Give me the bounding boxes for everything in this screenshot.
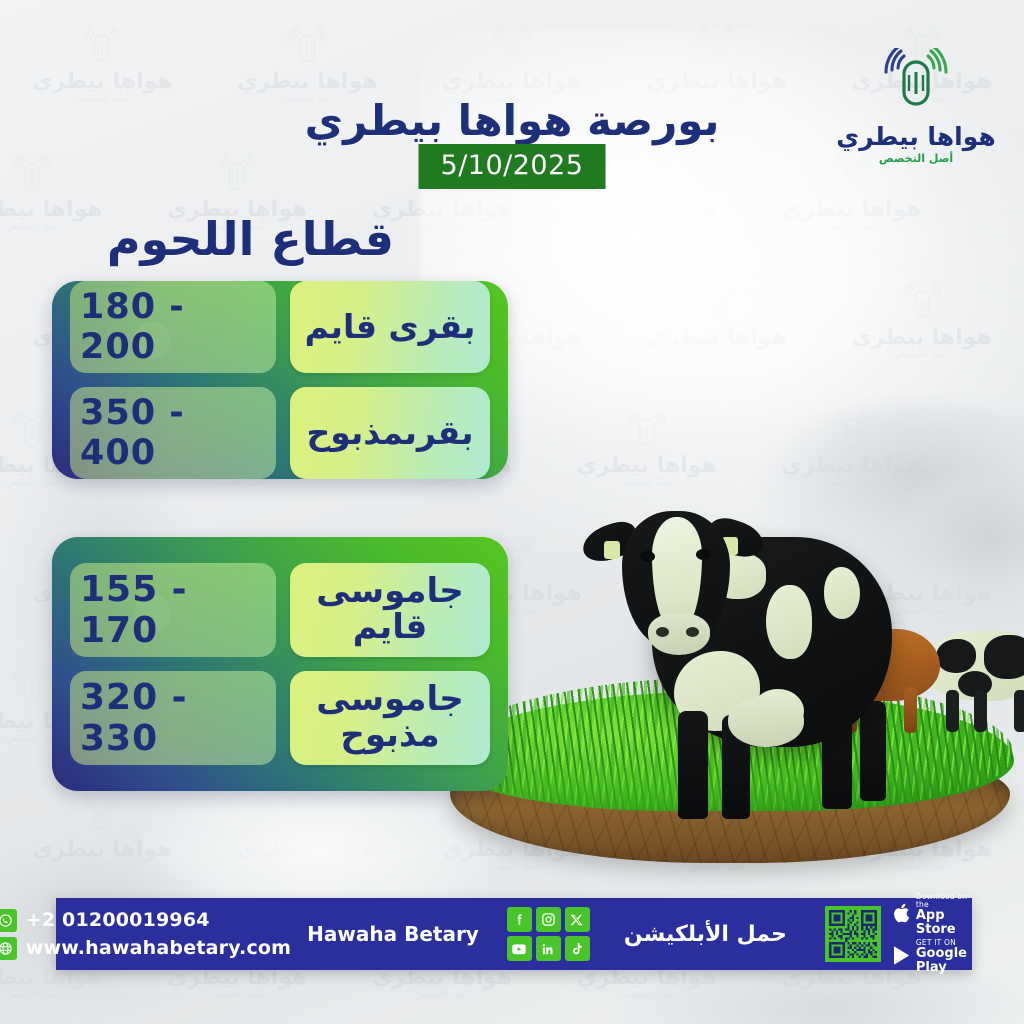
- watermark-tile: هواها بيطريأصل التخصص: [822, 537, 1022, 616]
- background-brown-cow: [826, 623, 976, 733]
- microphone-signal-icon: [281, 25, 333, 73]
- google-play-badge[interactable]: GET IT ON Google Play: [893, 939, 972, 974]
- watermark-text: هواها بيطري: [577, 453, 717, 478]
- microphone-signal-icon: [691, 281, 743, 329]
- watermark-text: هواها بيطري: [237, 837, 377, 862]
- microphone-signal-icon: [691, 25, 743, 73]
- logo-tagline: أصل التخصص: [879, 152, 953, 165]
- watermark-text: هواها بيطري: [851, 325, 991, 350]
- watermark-subtext: أصل التخصص: [825, 990, 877, 1000]
- watermark-subtext: أصل التخصص: [691, 862, 743, 872]
- microphone-signal-icon: [691, 793, 743, 841]
- soil-island: [450, 743, 1010, 863]
- footer-app-group: Download on the App Store GET IT ON Goog…: [809, 893, 972, 974]
- price-value: 320 - 330: [70, 671, 276, 765]
- social-links: [495, 907, 602, 961]
- microphone-signal-icon: [486, 793, 538, 841]
- watermark-tile: هواها بيطريأصل التخصص: [412, 25, 612, 104]
- microphone-signal-icon: [691, 537, 743, 585]
- holstein-cow: [556, 475, 906, 825]
- qr-code[interactable]: [825, 906, 881, 962]
- watermark-text: هواها بيطري: [237, 69, 377, 94]
- watermark-subtext: أصل التخصص: [621, 222, 673, 232]
- google-play-label: Google Play: [916, 947, 972, 974]
- watermark-tile: هواها بيطريأصل التخصص: [822, 793, 1022, 872]
- watermark-subtext: أصل التخصص: [6, 990, 58, 1000]
- watermark-text: هواها بيطري: [781, 197, 921, 222]
- watermark-text: هواها بيطري: [851, 837, 991, 862]
- watermark-text: هواها بيطري: [577, 709, 717, 734]
- poster-root: هواها بيطريأصل التخصصهواها بيطريأصل التخ…: [0, 0, 1024, 1024]
- watermark-tile: هواها بيطريأصل التخصص: [207, 25, 407, 104]
- watermark-subtext: أصل التخصص: [825, 734, 877, 744]
- watermark-subtext: أصل التخصص: [621, 990, 673, 1000]
- tiktok-icon[interactable]: [565, 936, 590, 961]
- watermark-subtext: أصل التخصص: [6, 222, 58, 232]
- whatsapp-icon: [0, 909, 17, 932]
- price-card-cattle: بقرى قايم 180 - 200 بقرىمذبوح 350 - 400: [52, 281, 508, 479]
- section-title: قطاع اللحوم: [107, 212, 394, 266]
- watermark-subtext: أصل التخصص: [281, 862, 333, 872]
- watermark-tile: هواها بيطريأصل التخصص: [617, 25, 817, 104]
- watermark-subtext: أصل التخصص: [691, 350, 743, 360]
- watermark-tile: هواها بيطريأصل التخصص: [2, 25, 202, 104]
- watermark-tile: هواها بيطريأصل التخصص: [752, 665, 952, 744]
- microphone-signal-icon: [621, 409, 673, 457]
- app-store-small-label: Download on the: [916, 893, 972, 909]
- watermark-tile: هواها بيطريأصل التخصص: [547, 409, 747, 488]
- price-value: 155 - 170: [70, 563, 276, 657]
- youtube-icon[interactable]: [507, 936, 532, 961]
- watermark-subtext: أصل التخصص: [76, 862, 128, 872]
- watermark-text: هواها بيطري: [647, 837, 787, 862]
- date-badge: 5/10/2025: [419, 144, 606, 189]
- microphone-signal-icon: [211, 153, 263, 201]
- watermark-text: هواها بيطري: [577, 197, 717, 222]
- footer-contacts: +2 01200019964 www.hawahabetary.com: [0, 909, 291, 960]
- microphone-signal-icon: [6, 153, 58, 201]
- watermark-text: هواها بيطري: [442, 837, 582, 862]
- microphone-signal-icon: [896, 537, 948, 585]
- watermark-subtext: أصل التخصص: [211, 990, 263, 1000]
- footer-bar: Download on the App Store GET IT ON Goog…: [56, 898, 972, 970]
- microphone-signal-icon: [6, 409, 58, 457]
- microphone-signal-icon: [826, 409, 878, 457]
- cloud-decoration: [760, 400, 1024, 570]
- watermark-tile: هواها بيطريأصل التخصص: [617, 537, 817, 616]
- watermark-tile: هواها بيطريأصل التخصص: [412, 793, 612, 872]
- page-title: بورصة هواها بيطري: [0, 96, 1024, 145]
- price-label: جاموسى مذبوح: [290, 671, 490, 765]
- watermark-tile: هواها بيطريأصل التخصص: [547, 665, 747, 744]
- footer-brand-name: Hawaha Betary: [291, 922, 495, 946]
- watermark-subtext: أصل التخصص: [895, 350, 947, 360]
- watermark-tile: هواها بيطريأصل التخصص: [752, 409, 952, 488]
- linkedin-icon[interactable]: [536, 936, 561, 961]
- apple-icon: [893, 903, 910, 926]
- watermark-subtext: أصل التخصص: [6, 734, 58, 744]
- whatsapp-number: +2 01200019964: [26, 909, 210, 931]
- microphone-signal-icon: [76, 793, 128, 841]
- watermark-subtext: أصل التخصص: [416, 990, 468, 1000]
- watermark-text: هواها بيطري: [851, 581, 991, 606]
- globe-icon: [0, 937, 17, 960]
- google-play-icon: [893, 946, 910, 968]
- website-url: www.hawahabetary.com: [26, 937, 291, 959]
- watermark-subtext: أصل التخصص: [825, 478, 877, 488]
- app-store-label: App Store: [916, 909, 972, 936]
- watermark-tile: هواها بيطريأصل التخصص: [617, 281, 817, 360]
- watermark-text: هواها بيطري: [781, 453, 921, 478]
- watermark-text: هواها بيطري: [781, 709, 921, 734]
- whatsapp-contact[interactable]: +2 01200019964: [0, 909, 291, 932]
- microphone-signal-icon: [76, 25, 128, 73]
- watermark-subtext: أصل التخصص: [691, 606, 743, 616]
- watermark-subtext: أصل التخصص: [416, 478, 468, 488]
- microphone-signal-icon: [896, 281, 948, 329]
- x-twitter-icon[interactable]: [565, 907, 590, 932]
- cow-scene: [430, 455, 1024, 895]
- watermark-subtext: أصل التخصص: [416, 222, 468, 232]
- background-spotted-cow: [922, 627, 1024, 732]
- watermark-subtext: أصل التخصص: [825, 222, 877, 232]
- microphone-signal-icon: [826, 665, 878, 713]
- microphone-signal-icon: [621, 153, 673, 201]
- price-value: 350 - 400: [70, 387, 276, 479]
- grass-patch: [446, 691, 1014, 811]
- watermark-subtext: أصل التخصص: [621, 734, 673, 744]
- microphone-signal-icon: [486, 25, 538, 73]
- microphone-signal-icon: [896, 793, 948, 841]
- watermark-text: هواها بيطري: [647, 69, 787, 94]
- watermark-text: هواها بيطري: [32, 69, 172, 94]
- cloud-decoration: [880, 470, 1024, 620]
- price-label: بقرىمذبوح: [290, 387, 490, 479]
- price-row: جاموسى مذبوح 320 - 330: [70, 671, 490, 765]
- instagram-icon[interactable]: [536, 907, 561, 932]
- watermark-subtext: أصل التخصص: [895, 862, 947, 872]
- price-label: جاموسى قايم: [290, 563, 490, 657]
- store-badges: Download on the App Store GET IT ON Goog…: [893, 893, 972, 974]
- website-contact[interactable]: www.hawahabetary.com: [0, 937, 291, 960]
- watermark-tile: هواها بيطريأصل التخصص: [207, 793, 407, 872]
- watermark-text: هواها بيطري: [647, 581, 787, 606]
- watermark-subtext: أصل التخصص: [895, 606, 947, 616]
- watermark-subtext: أصل التخصص: [621, 478, 673, 488]
- watermark-text: هواها بيطري: [647, 325, 787, 350]
- watermark-subtext: أصل التخصص: [211, 478, 263, 488]
- download-app-cta[interactable]: حمل الأبلكيشن: [602, 922, 809, 947]
- microphone-signal-icon: [6, 665, 58, 713]
- microphone-signal-icon: [621, 665, 673, 713]
- price-value: 180 - 200: [70, 281, 276, 373]
- facebook-icon[interactable]: [507, 907, 532, 932]
- watermark-subtext: أصل التخصص: [486, 862, 538, 872]
- watermark-tile: هواها بيطريأصل التخصص: [617, 793, 817, 872]
- watermark-text: هواها بيطري: [0, 197, 103, 222]
- price-row: بقرىمذبوح 350 - 400: [70, 387, 490, 479]
- price-card-buffalo: جاموسى قايم 155 - 170 جاموسى مذبوح 320 -…: [52, 537, 508, 791]
- price-label: بقرى قايم: [290, 281, 490, 373]
- price-row: بقرى قايم 180 - 200: [70, 281, 490, 373]
- watermark-tile: هواها بيطريأصل التخصص: [822, 281, 1022, 360]
- watermark-text: هواها بيطري: [32, 837, 172, 862]
- microphone-signal-icon: [281, 793, 333, 841]
- watermark-text: هواها بيطري: [442, 69, 582, 94]
- price-row: جاموسى قايم 155 - 170: [70, 563, 490, 657]
- watermark-subtext: أصل التخصص: [6, 478, 58, 488]
- watermark-tile: هواها بيطريأصل التخصص: [2, 793, 202, 872]
- app-store-badge[interactable]: Download on the App Store: [893, 893, 972, 936]
